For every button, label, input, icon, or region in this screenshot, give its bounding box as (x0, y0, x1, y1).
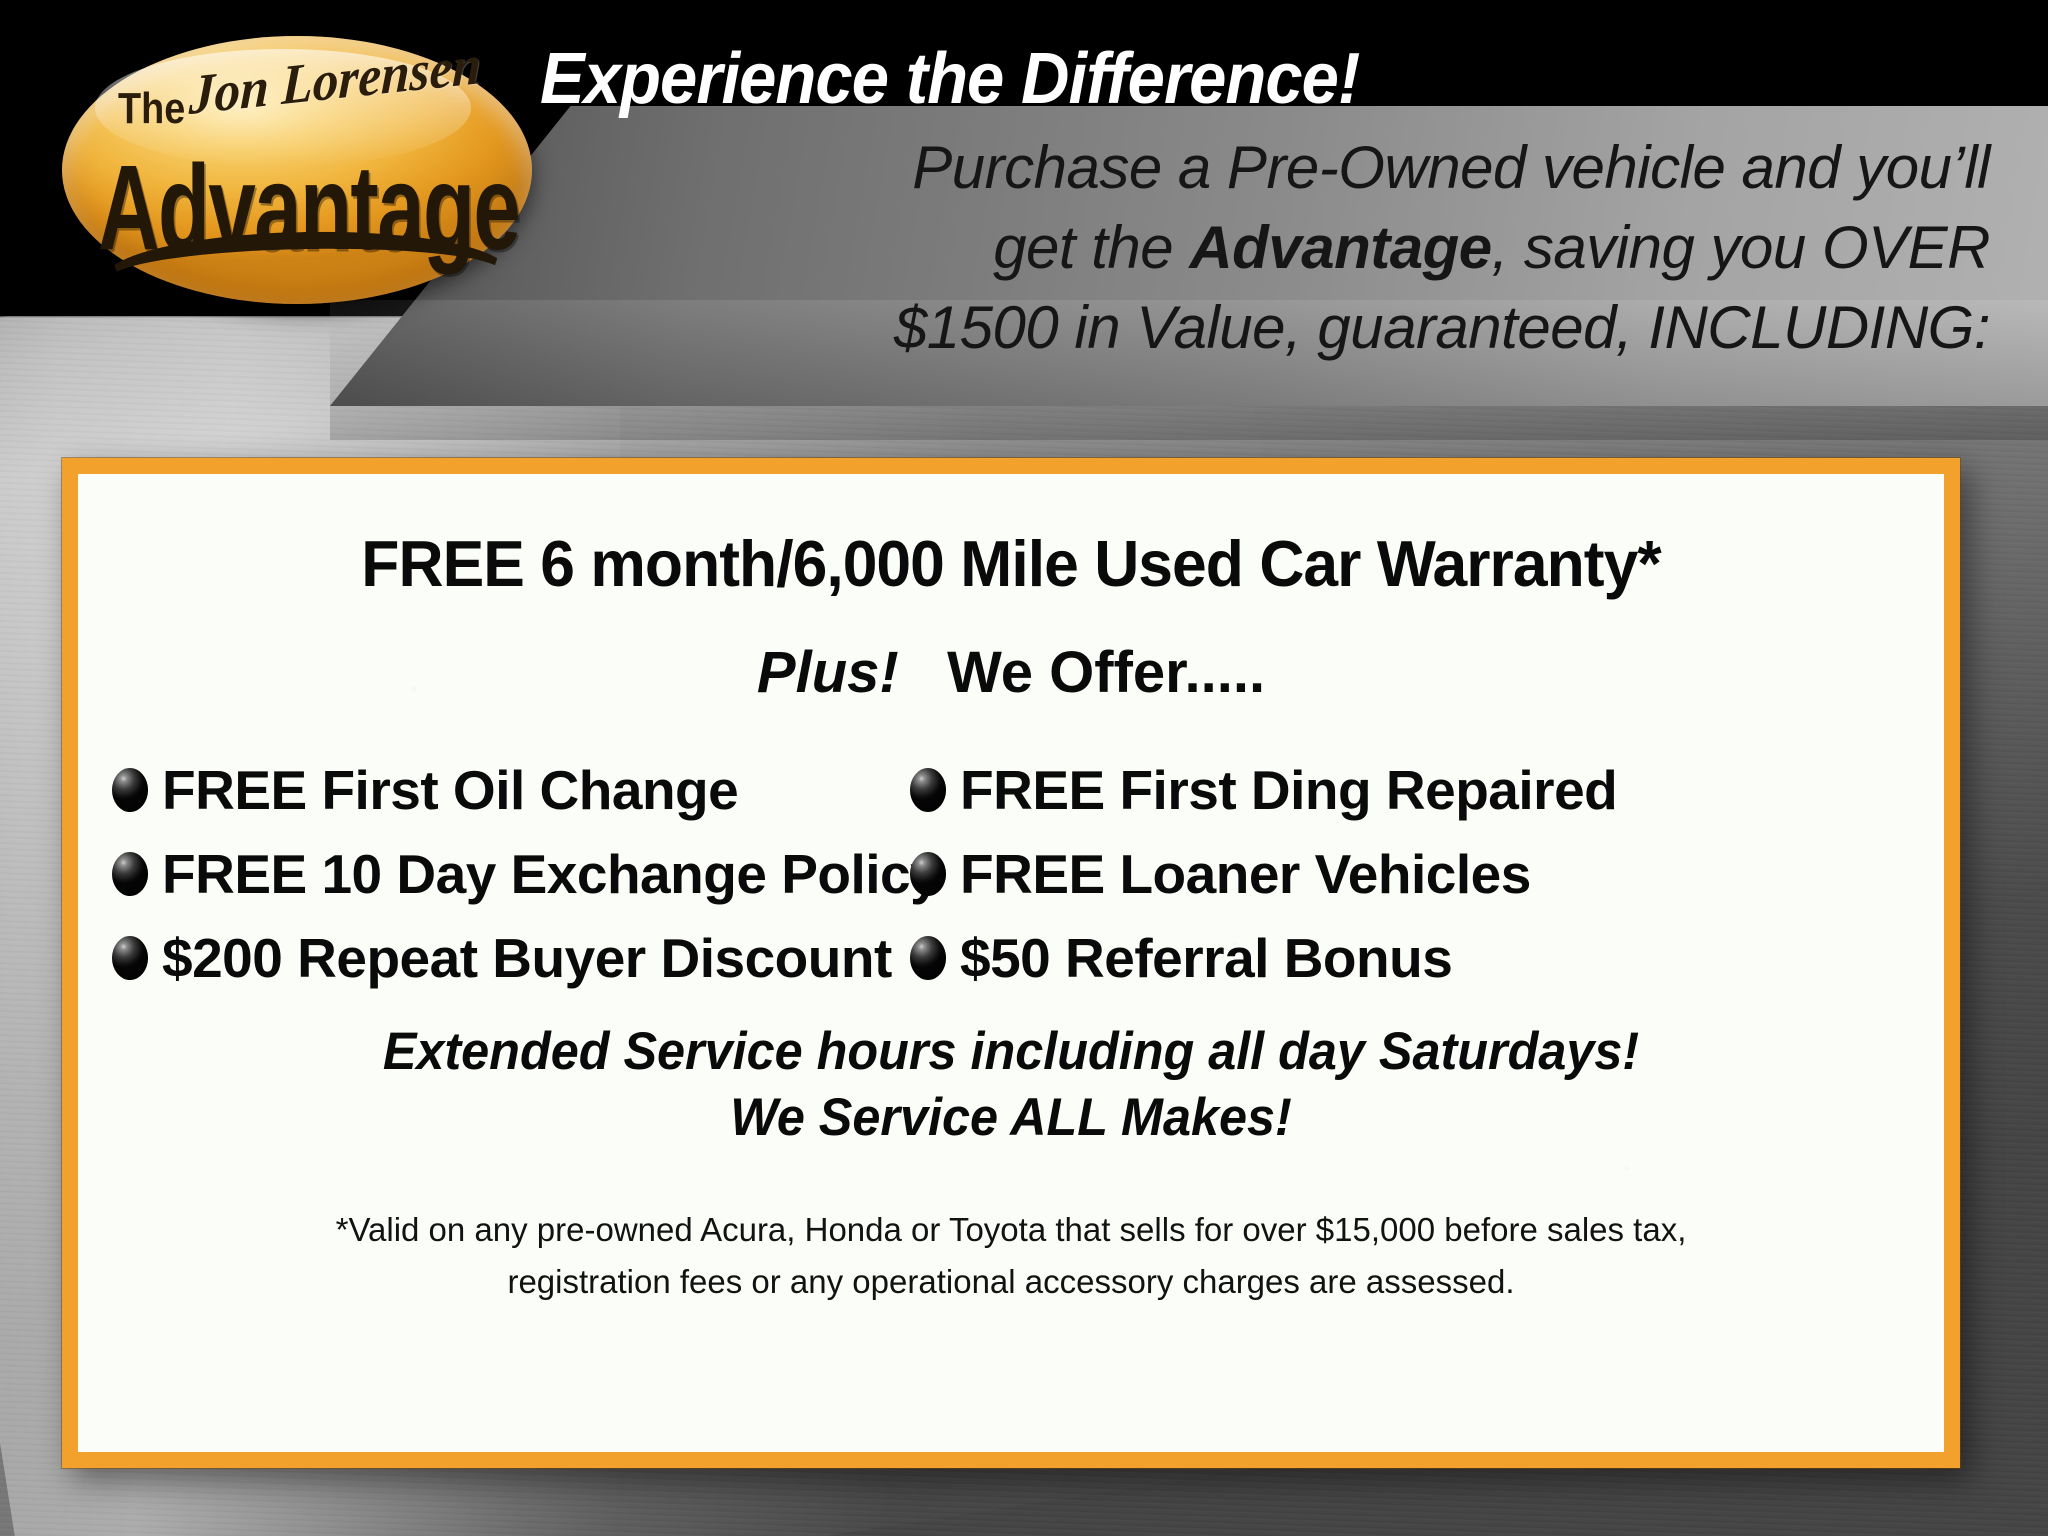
offers-column-left: FREE First Oil Change FREE 10 Day Exchan… (112, 748, 902, 1000)
subtext-line-2-pre: get the (993, 214, 1189, 281)
subtext-line-3: $1500 in Value, guaranteed, INCLUDING: (470, 288, 1990, 368)
bullet-sphere-icon (112, 936, 148, 980)
offer-label: FREE First Oil Change (162, 758, 738, 822)
list-item: FREE 10 Day Exchange Policy (112, 832, 902, 916)
subtext-line-1: Purchase a Pre-Owned vehicle and you’ll (470, 128, 1990, 208)
offer-label: FREE First Ding Repaired (960, 758, 1617, 822)
bullet-sphere-icon (910, 768, 946, 812)
offer-label: $200 Repeat Buyer Discount (162, 926, 892, 990)
list-item: FREE First Ding Repaired (910, 748, 1910, 832)
plus-word: Plus! (757, 640, 899, 705)
offers-columns: FREE First Oil Change FREE 10 Day Exchan… (112, 748, 1912, 1000)
page-title: Experience the Difference! (540, 38, 1861, 120)
subtext-line-2: get the Advantage, saving you OVER (470, 208, 1990, 288)
offer-card-inner: FREE 6 month/6,000 Mile Used Car Warrant… (78, 474, 1944, 1452)
offer-label: FREE 10 Day Exchange Policy (162, 842, 940, 906)
disclaimer-fineprint: *Valid on any pre-owned Acura, Honda or … (168, 1204, 1854, 1308)
subtext-line-2-post: , saving you OVER (1492, 214, 1990, 281)
bullet-sphere-icon (910, 852, 946, 896)
fineprint-line-2: registration fees or any operational acc… (168, 1256, 1854, 1308)
plus-offer-line: Plus! We Offer..... (78, 639, 1944, 706)
list-item: $200 Repeat Buyer Discount (112, 916, 902, 1000)
header-subtext: Purchase a Pre-Owned vehicle and you’ll … (470, 128, 1990, 368)
bullet-sphere-icon (112, 768, 148, 812)
advertisement-poster: The Jon Lorensen Advantage Experience th… (0, 0, 2048, 1536)
jon-lorensen-advantage-logo: The Jon Lorensen Advantage (62, 36, 532, 304)
offers-column-right: FREE First Ding Repaired FREE Loaner Veh… (902, 748, 1910, 1000)
service-hours-note: Extended Service hours including all day… (125, 1019, 1898, 1151)
bullet-sphere-icon (910, 936, 946, 980)
offer-label: FREE Loaner Vehicles (960, 842, 1531, 906)
bullet-sphere-icon (112, 852, 148, 896)
list-item: FREE Loaner Vehicles (910, 832, 1910, 916)
subtext-advantage-emphasis: Advantage (1189, 214, 1491, 281)
list-item: $50 Referral Bonus (910, 916, 1910, 1000)
offer-word: We Offer..... (947, 640, 1265, 705)
service-line-2: We Service ALL Makes! (125, 1085, 1898, 1151)
offer-label: $50 Referral Bonus (960, 926, 1452, 990)
list-item: FREE First Oil Change (112, 748, 902, 832)
warranty-headline: FREE 6 month/6,000 Mile Used Car Warrant… (115, 526, 1906, 601)
fineprint-line-1: *Valid on any pre-owned Acura, Honda or … (168, 1204, 1854, 1256)
logo-the-text: The (118, 84, 185, 134)
offer-card: FREE 6 month/6,000 Mile Used Car Warrant… (62, 458, 1960, 1468)
service-line-1: Extended Service hours including all day… (125, 1019, 1898, 1085)
